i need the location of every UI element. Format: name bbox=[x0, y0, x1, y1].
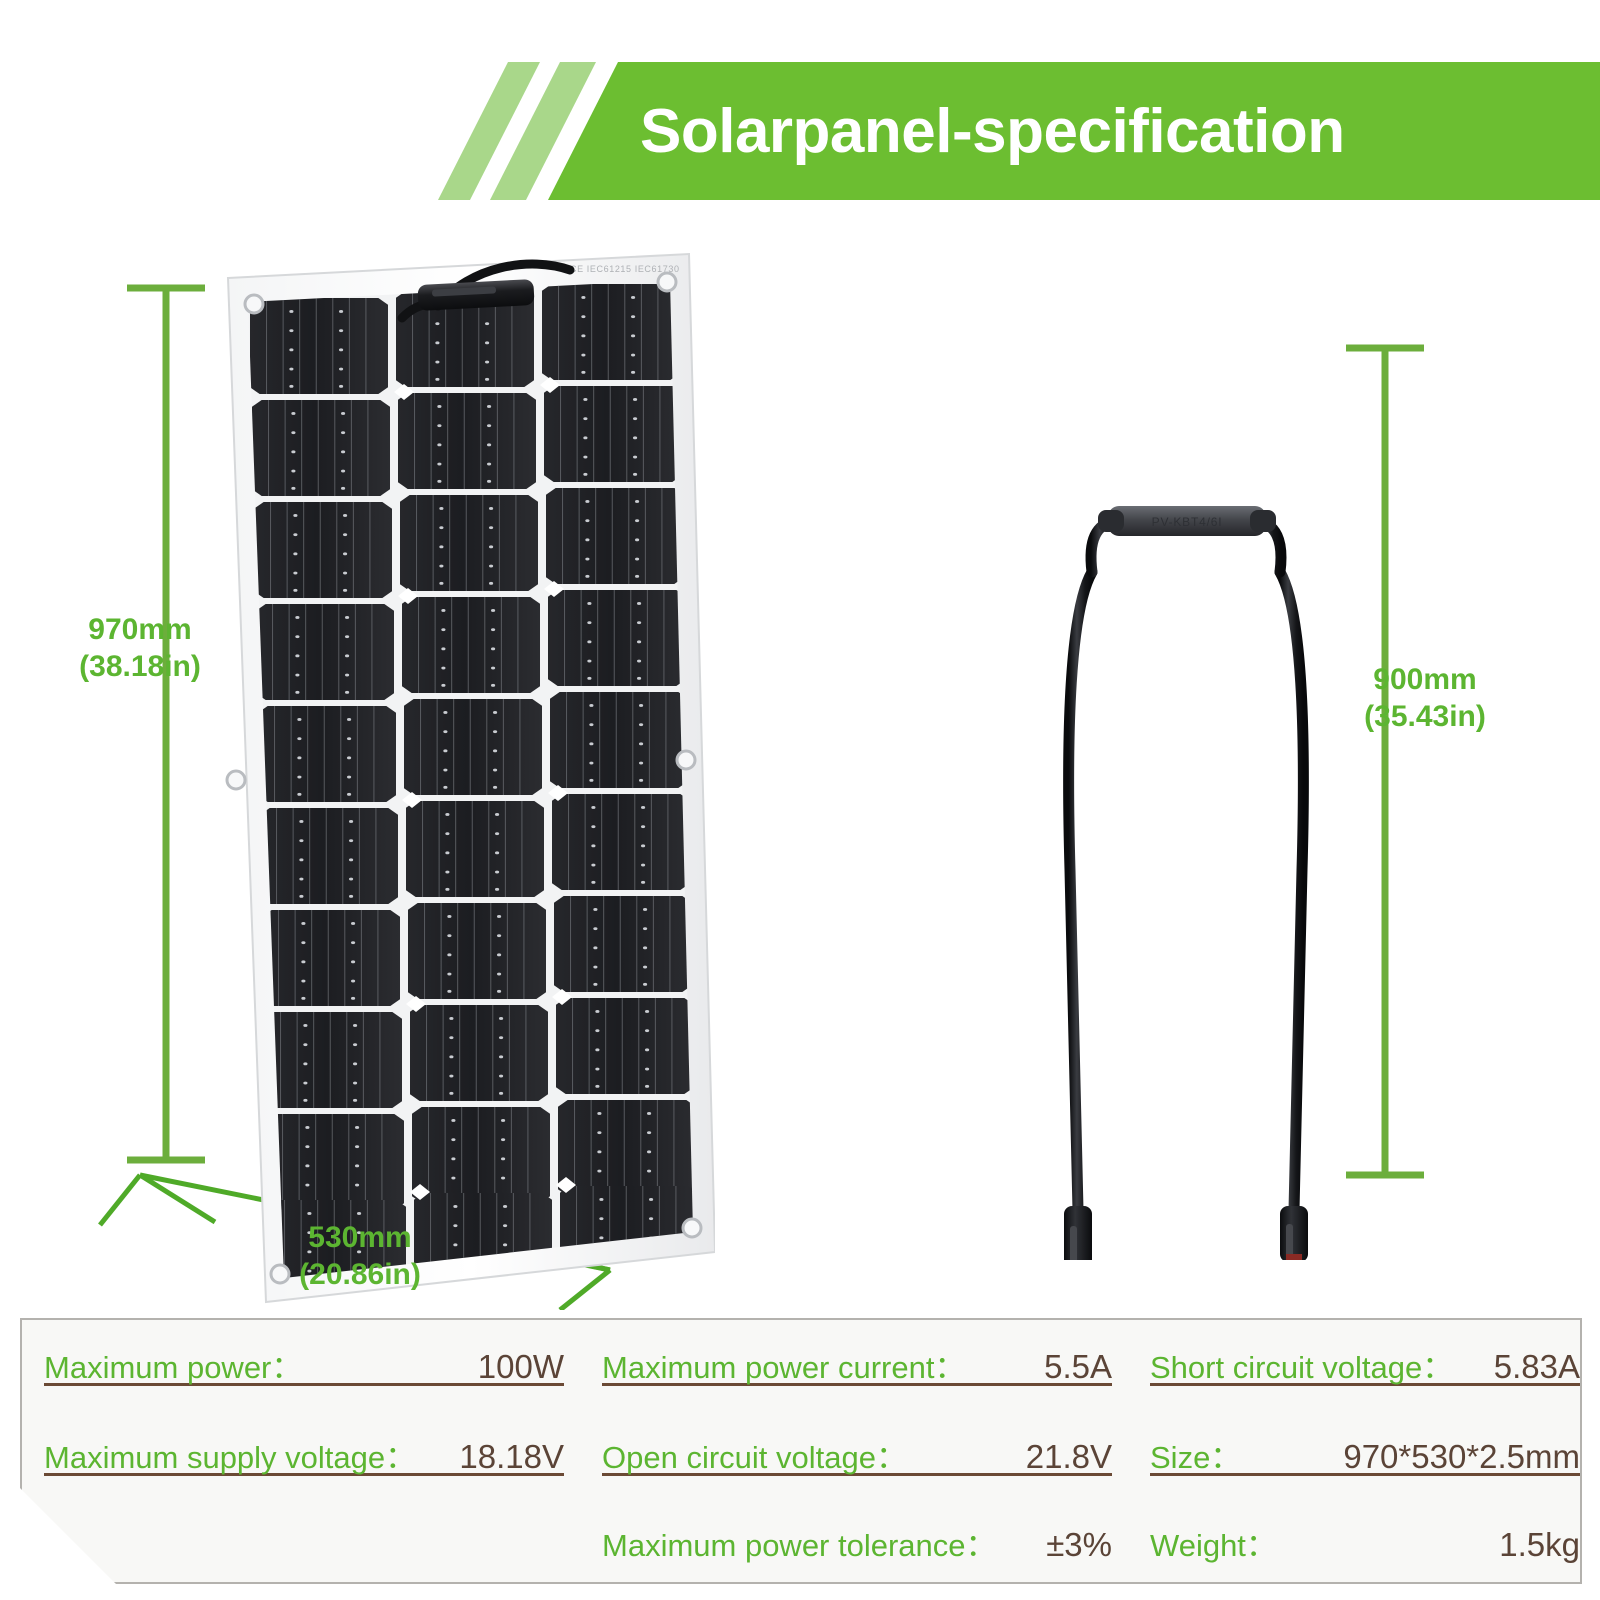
spec-row-maximum-power: Maximum power： 100W bbox=[44, 1342, 564, 1386]
cable-dimension-guide bbox=[1346, 348, 1424, 1175]
flexible-solar-panel: CE IEC61215 IEC61730 bbox=[170, 240, 715, 1310]
spec-row-maximum-supply-voltage: Maximum supply voltage： 18.18V bbox=[44, 1432, 564, 1476]
specification-table: Maximum power： 100W Maximum supply volta… bbox=[20, 1318, 1582, 1584]
height-dimension-label: 970mm (38.18in) bbox=[40, 612, 240, 685]
spec-row-size: Size： 970*530*2.5mm bbox=[1150, 1432, 1580, 1476]
panel-cell-array bbox=[240, 284, 705, 1296]
spec-value: 18.18V bbox=[441, 1438, 564, 1476]
junction-box-label: PV-KBT4/6I bbox=[1152, 515, 1223, 529]
spec-column-2: Maximum power current： 5.5A Open circuit… bbox=[602, 1320, 1112, 1586]
spec-label: Size： bbox=[1150, 1432, 1241, 1477]
spec-column-3: Short circuit voltage： 5.83A Size： 970*5… bbox=[1150, 1320, 1580, 1586]
spec-row-short-circuit-voltage: Short circuit voltage： 5.83A bbox=[1150, 1342, 1580, 1386]
cable-dimension-label: 900mm (35.43in) bbox=[1300, 662, 1550, 735]
mc4-male-connector bbox=[1280, 1206, 1308, 1260]
spec-label: Weight： bbox=[1150, 1520, 1277, 1565]
spec-value: 5.83A bbox=[1476, 1348, 1580, 1386]
spec-row-maximum-power-current: Maximum power current： 5.5A bbox=[602, 1342, 1112, 1386]
mc4-cable-assembly: PV-KBT4/6I bbox=[1030, 310, 1350, 1260]
spec-value: 100W bbox=[460, 1348, 564, 1386]
spec-row-maximum-power-tolerance: Maximum power tolerance： ±3% bbox=[602, 1520, 1112, 1564]
spec-label: Maximum power： bbox=[44, 1342, 302, 1387]
spec-row-open-circuit-voltage: Open circuit voltage： 21.8V bbox=[602, 1432, 1112, 1476]
spec-label: Maximum power tolerance： bbox=[602, 1520, 997, 1565]
spec-row-weight: Weight： 1.5kg bbox=[1150, 1520, 1580, 1564]
cable-left bbox=[1069, 572, 1092, 1210]
spec-value: 970*530*2.5mm bbox=[1325, 1438, 1580, 1476]
product-figure-area: CE IEC61215 IEC61730 bbox=[0, 200, 1600, 1310]
spec-label: Short circuit voltage： bbox=[1150, 1342, 1453, 1387]
spec-label: Maximum supply voltage： bbox=[44, 1432, 416, 1477]
spec-value: ±3% bbox=[1028, 1526, 1112, 1564]
spec-value: 1.5kg bbox=[1481, 1526, 1580, 1564]
spec-label: Maximum power current： bbox=[602, 1342, 965, 1387]
mc4-female-connector bbox=[1056, 1206, 1100, 1260]
spec-value: 5.5A bbox=[1026, 1348, 1112, 1386]
spec-column-1: Maximum power： 100W Maximum supply volta… bbox=[44, 1320, 564, 1586]
panel-edge-label: CE IEC61215 IEC61730 bbox=[570, 264, 680, 274]
spec-label: Open circuit voltage： bbox=[602, 1432, 907, 1477]
spec-value: 21.8V bbox=[1008, 1438, 1112, 1476]
cable-junction-box: PV-KBT4/6I bbox=[1091, 506, 1281, 572]
width-dimension-label: 530mm (20.86in) bbox=[245, 1220, 475, 1293]
page-title: Solarpanel-specification bbox=[640, 62, 1600, 200]
